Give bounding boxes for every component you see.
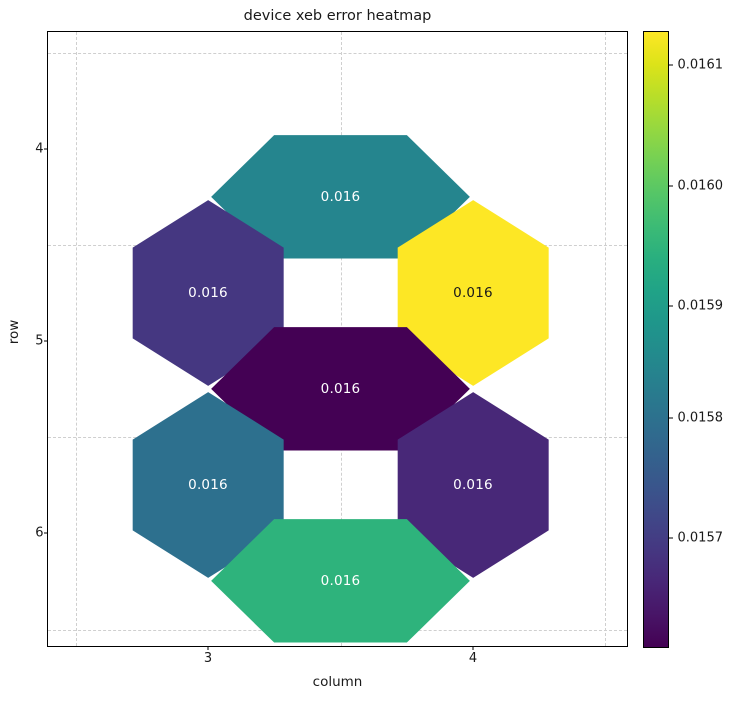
colorbar-tick-label: 0.0160 (678, 179, 724, 194)
gridline-vertical (76, 32, 77, 646)
heatmap-cell[interactable]: 0.016 (208, 517, 473, 645)
plot-axes: 0.0160.0160.0160.0160.0160.0160.016 456 … (47, 31, 628, 647)
colorbar-tick-mark (669, 65, 673, 66)
x-axis-label: column (47, 674, 628, 690)
colorbar-tick-mark (669, 538, 673, 539)
x-tick-label: 3 (204, 651, 212, 666)
x-tick-mark (473, 646, 474, 650)
colorbar-tick-label: 0.0161 (678, 58, 724, 73)
plot-area: 0.0160.0160.0160.0160.0160.0160.016 (48, 32, 627, 646)
gridline-horizontal (48, 53, 627, 54)
colorbar: 0.01610.01600.01590.01580.0157 (643, 31, 669, 648)
colorbar-gradient (643, 31, 669, 648)
y-tick-mark (44, 149, 48, 150)
colorbar-tick-label: 0.0159 (678, 299, 724, 314)
colorbar-tick-label: 0.0158 (678, 411, 724, 426)
colorbar-tick-label: 0.0157 (678, 531, 724, 546)
chart-title: device xeb error heatmap (47, 7, 628, 25)
y-tick-mark (44, 533, 48, 534)
y-tick-label: 6 (35, 526, 43, 541)
y-tick-label: 4 (35, 142, 43, 157)
heatmap-cell-polygon (208, 517, 473, 645)
colorbar-tick-mark (669, 186, 673, 187)
y-tick-label: 5 (35, 334, 43, 349)
colorbar-tick-mark (669, 306, 673, 307)
y-tick-mark (44, 341, 48, 342)
y-axis-label: row (6, 302, 22, 362)
figure-canvas: device xeb error heatmap 0.0160.0160.016… (0, 0, 736, 701)
gridline-vertical (605, 32, 606, 646)
colorbar-tick-mark (669, 418, 673, 419)
x-tick-mark (208, 646, 209, 650)
x-tick-label: 4 (469, 651, 477, 666)
